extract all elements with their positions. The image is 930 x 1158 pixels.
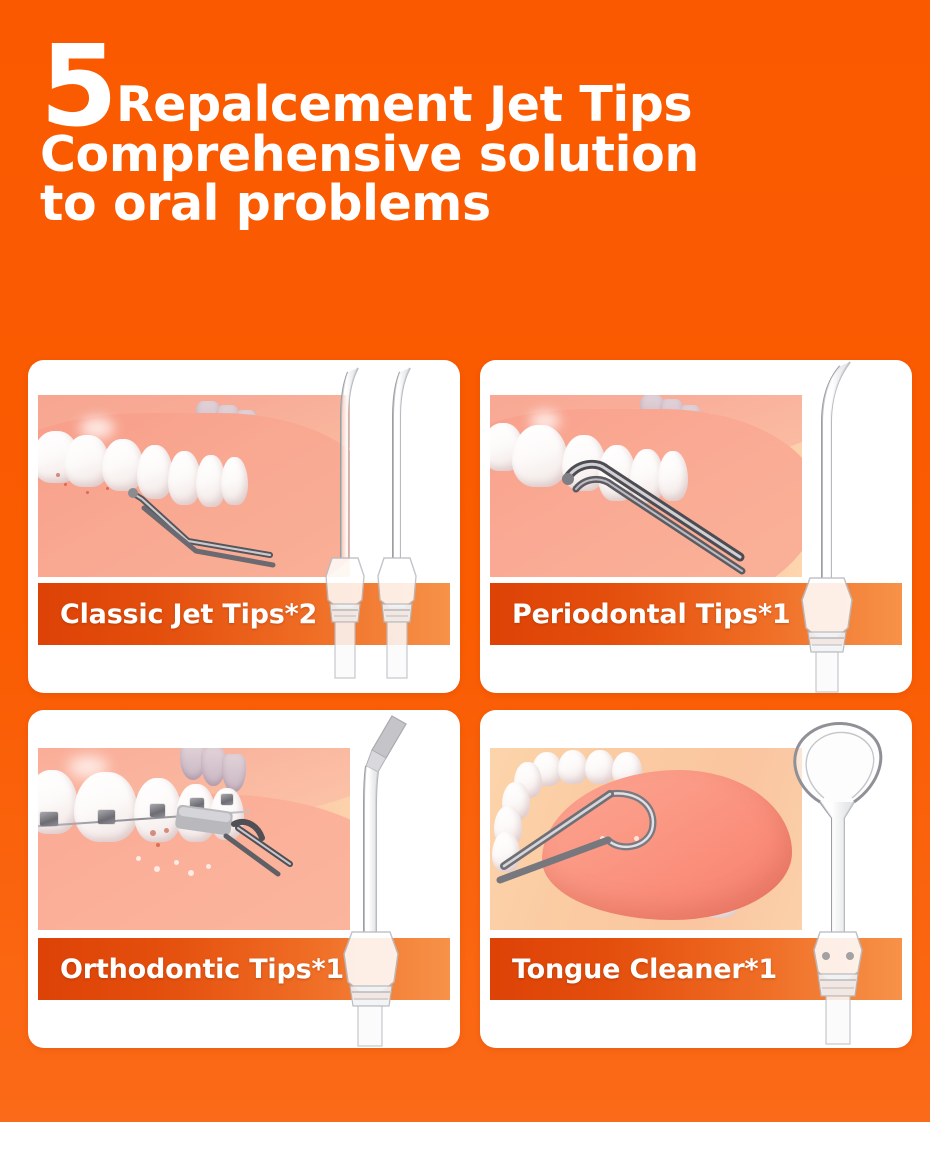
card-photo-periodontal-tips [490,395,802,577]
feature-card-grid: Classic Jet Tips*2 [28,360,902,1048]
card-label-bar-periodontal-tips: Periodontal Tips*1 [490,583,902,645]
feature-card-classic-jet-tips[interactable]: Classic Jet Tips*2 [28,360,460,693]
card-photo-orthodontic-tips [38,748,350,930]
tip-count-number: 5 [40,42,116,134]
in-mouth-tongue-scraper [490,748,802,930]
card-label-bar-tongue-cleaner: Tongue Cleaner*1 [490,938,902,1000]
in-mouth-periodontal-probe [490,395,802,577]
card-label-tongue-cleaner: Tongue Cleaner*1 [490,954,777,985]
card-label-bar-classic-jet-tips: Classic Jet Tips*2 [38,583,450,645]
card-label-orthodontic-tips: Orthodontic Tips*1 [38,954,344,985]
in-mouth-nozzle [38,395,350,577]
card-photo-classic-jet-tips [38,395,350,577]
feature-card-periodontal-tips[interactable]: Periodontal Tips*1 [480,360,912,693]
in-mouth-orthodontic-brush [38,748,350,930]
feature-card-tongue-cleaner[interactable]: Tongue Cleaner*1 [480,710,912,1048]
card-label-periodontal-tips: Periodontal Tips*1 [490,599,790,630]
card-label-classic-jet-tips: Classic Jet Tips*2 [38,599,317,630]
feature-card-orthodontic-tips[interactable]: Orthodontic Tips*1 [28,710,460,1048]
card-photo-tongue-cleaner [490,748,802,930]
card-label-bar-orthodontic-tips: Orthodontic Tips*1 [38,938,450,1000]
headline-line-1-text: Repalcement Jet Tips [116,82,692,129]
headline-line-3: to oral problems [40,177,830,232]
product-feature-banner: 5 Repalcement Jet Tips Comprehensive sol… [0,0,930,1158]
page-title: 5 Repalcement Jet Tips Comprehensive sol… [40,42,830,232]
headline-line-1: 5 Repalcement Jet Tips [40,42,830,134]
